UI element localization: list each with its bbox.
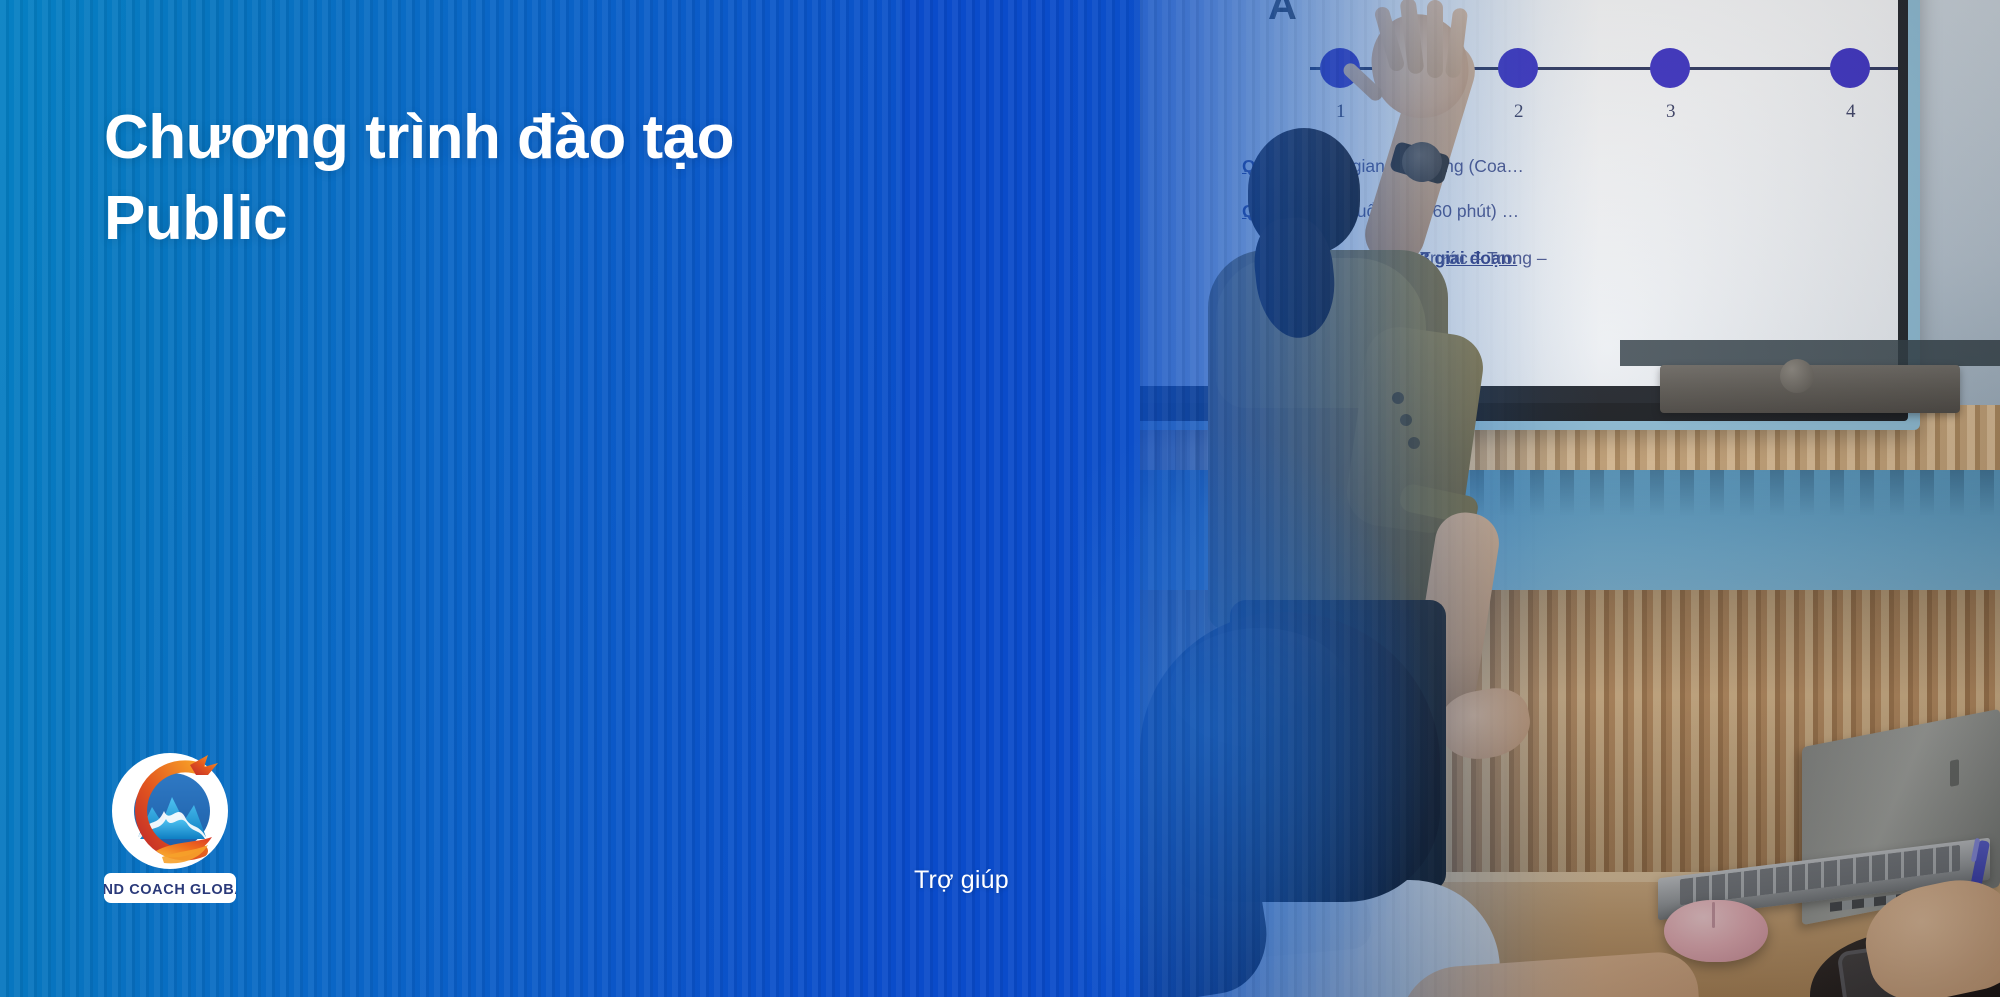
- help-link[interactable]: Trợ giúp: [914, 866, 1009, 895]
- mouse-button-seam: [1712, 902, 1715, 928]
- promo-banner: A 1 2 3 4 Quy …ai toàn thời gian Coachin…: [0, 0, 2000, 997]
- logo-wordmark: MIND COACH GLOBAL: [104, 882, 236, 898]
- slide-timeline-dot: [1830, 48, 1870, 88]
- laptop-hinge: [1950, 759, 1959, 787]
- page-title: Chương trình đào tạo Public: [104, 98, 984, 259]
- pink-mouse: [1664, 900, 1768, 962]
- slide-timeline-dot: [1650, 48, 1690, 88]
- soundbar-camera: [1780, 359, 1814, 393]
- headline-line-1: Chương trình đào tạo: [104, 98, 984, 179]
- slide-tick-label: 4: [1846, 101, 1856, 123]
- slide-tick-label: 3: [1666, 101, 1676, 123]
- logo[interactable]: MIND COACH GLOBAL: [104, 745, 236, 913]
- brand-gradient-glow: [1080, 420, 1440, 997]
- headline-line-2: Public: [104, 179, 984, 260]
- wall-rail: [1620, 340, 2000, 366]
